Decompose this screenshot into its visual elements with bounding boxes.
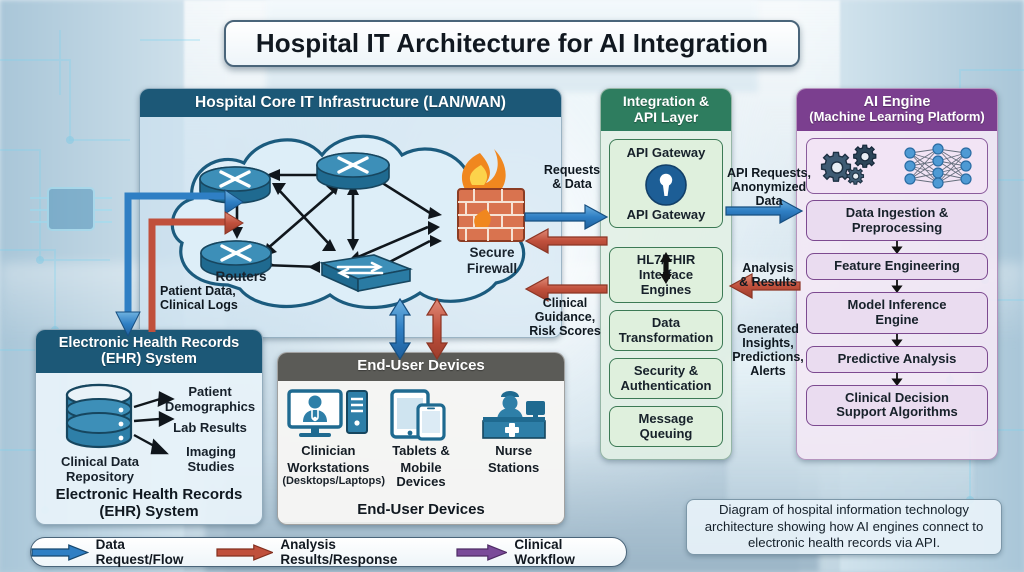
legend-purple-arrow-icon <box>456 544 508 561</box>
diagram-caption: Diagram of hospital information technolo… <box>686 499 1002 555</box>
security-line1: Security & <box>613 364 719 379</box>
ehr-header-line1: Electronic Health Records <box>42 335 256 351</box>
ehr-output-1-line1: Lab Results <box>160 421 260 436</box>
devices-row: Clinician Workstations (Desktops/Laptops… <box>278 381 564 490</box>
diagram-caption-text: Diagram of hospital information technolo… <box>695 502 993 553</box>
device-1-label-line1: Tablets & <box>375 444 467 458</box>
ehr-body: Clinical Data Repository Patient Demogra… <box>36 373 262 525</box>
ehr-footer: Electronic Health Records (EHR) System <box>36 487 262 521</box>
flow-ai-api-line2: & Results <box>730 275 806 289</box>
flow-guidance-line1: Clinical <box>524 296 606 310</box>
flow-insights-line4: Alerts <box>728 364 808 378</box>
ai-arrow-3 <box>806 334 988 346</box>
flow-api-ai-line2: Anonymized Data <box>718 180 820 208</box>
ai-step-data-ingestion[interactable]: Data Ingestion & Preprocessing <box>806 200 988 242</box>
ehr-repository-line2: Repository <box>48 470 152 485</box>
device-0-label-line2: Workstations <box>282 461 374 475</box>
ai-step-2-line2: Engine <box>810 313 984 328</box>
ai-arrow-1 <box>806 241 988 253</box>
api-gateway-top-label: API Gateway <box>613 146 719 161</box>
ai-step-3-line1: Predictive Analysis <box>810 352 984 367</box>
flow-api-ai-line1: API Requests, <box>718 166 820 180</box>
legend: Data Request/Flow Analysis Results/Respo… <box>30 537 627 567</box>
api-box-data-transformation[interactable]: Data Transformation <box>609 310 723 351</box>
device-2-label-line2: Stations <box>468 461 560 475</box>
ehr-repository-line1: Clinical Data <box>48 455 152 470</box>
flow-label-ai-to-api: Analysis & Results <box>730 261 806 289</box>
ai-arrow-4 <box>806 373 988 385</box>
ehr-repository-label: Clinical Data Repository <box>48 455 152 484</box>
ai-step-predictive-analysis[interactable]: Predictive Analysis <box>806 346 988 373</box>
message-queue-line1: Message <box>613 412 719 427</box>
ai-step-model-inference[interactable]: Model Inference Engine <box>806 292 988 334</box>
devices-footer: End-User Devices <box>278 501 564 518</box>
legend-red-arrow-icon <box>216 544 274 561</box>
core-header: Hospital Core IT Infrastructure (LAN/WAN… <box>140 89 561 117</box>
legend-item-clinical-workflow[interactable]: Clinical Workflow <box>456 537 626 567</box>
nurse-station-icon <box>468 389 560 441</box>
flow-patient-data-line1: Patient Data, <box>160 284 264 298</box>
api-body: API Gateway API Gateway HL7/FHIR Interfa… <box>601 131 731 455</box>
flow-guidance-line3: Risk Scores <box>524 324 606 338</box>
ai-header-line1: AI Engine <box>803 94 991 110</box>
security-line2: Authentication <box>613 379 719 394</box>
api-header-line1: Integration & <box>607 94 725 110</box>
flow-insights-line1: Generated <box>728 322 808 336</box>
hl7-line2: Interface <box>613 268 719 283</box>
legend-item-data-request[interactable]: Data Request/Flow <box>31 537 216 567</box>
database-icon <box>67 385 131 447</box>
ai-step-feature-engineering[interactable]: Feature Engineering <box>806 253 988 280</box>
device-item-nurse-stations[interactable]: Nurse Stations <box>468 389 560 476</box>
ehr-output-patient-demographics: Patient Demographics <box>160 385 260 414</box>
ai-icon-row <box>806 138 988 194</box>
label-firewall-line1: Secure <box>452 245 532 260</box>
flow-insights-line3: Predictions, <box>728 350 808 364</box>
ehr-output-2-line1: Imaging <box>162 445 260 460</box>
device-2-label-line1: Nurse <box>468 444 560 458</box>
panel-ehr-system[interactable]: Electronic Health Records (EHR) System <box>35 329 263 525</box>
hl7-line1: HL7/FHIR <box>613 253 719 268</box>
flow-core-api-line2: & Data <box>535 177 609 191</box>
message-queue-line2: Queuing <box>613 427 719 442</box>
api-gateway-bottom-label: API Gateway <box>613 208 719 223</box>
tablet-mobile-icon <box>375 389 467 441</box>
page-title-text: Hospital IT Architecture for AI Integrat… <box>256 28 768 59</box>
device-item-clinician-workstations[interactable]: Clinician Workstations (Desktops/Laptops… <box>282 389 374 488</box>
ehr-output-0-line1: Patient <box>160 385 260 400</box>
api-key-lock-icon <box>613 164 719 206</box>
ai-step-2-line1: Model Inference <box>810 298 984 313</box>
neural-network-icon <box>898 143 978 189</box>
panel-ai-engine[interactable]: AI Engine (Machine Learning Platform) <box>796 88 998 460</box>
data-transformation-line1: Data <box>613 316 719 331</box>
legend-label-1: Analysis Results/Response <box>280 537 455 567</box>
flow-guidance-line2: Guidance, <box>524 310 606 324</box>
desktop-workstation-icon <box>282 389 374 441</box>
ai-step-1-line1: Feature Engineering <box>810 259 984 274</box>
flow-patient-data-line2: Clinical Logs <box>160 298 264 312</box>
router-icon-1 <box>200 167 270 203</box>
flow-insights-line2: Insights, <box>728 336 808 350</box>
api-box-security-authentication[interactable]: Security & Authentication <box>609 358 723 399</box>
firewall-icon <box>458 149 524 241</box>
ehr-output-0-line2: Demographics <box>160 400 260 415</box>
ai-step-4-line2: Support Algorithms <box>810 405 984 420</box>
ehr-output-2-line2: Studies <box>162 460 260 475</box>
device-item-tablets-mobile[interactable]: Tablets & Mobile Devices <box>375 389 467 490</box>
devices-header: End-User Devices <box>278 353 564 381</box>
ehr-header: Electronic Health Records (EHR) System <box>36 330 262 373</box>
flow-label-generated-insights: Generated Insights, Predictions, Alerts <box>728 322 808 378</box>
label-routers: Routers <box>206 269 276 284</box>
api-header: Integration & API Layer <box>601 89 731 131</box>
flow-label-core-to-api: Requests & Data <box>535 163 609 191</box>
ai-header: AI Engine (Machine Learning Platform) <box>797 89 997 131</box>
ehr-footer-line1: Electronic Health Records <box>36 487 262 504</box>
api-header-line2: API Layer <box>607 110 725 126</box>
panel-integration-api-layer[interactable]: Integration & API Layer API Gateway API … <box>600 88 732 460</box>
label-firewall-line2: Firewall <box>452 261 532 276</box>
ehr-footer-line2: (EHR) System <box>36 504 262 521</box>
page-title: Hospital IT Architecture for AI Integrat… <box>224 20 800 67</box>
ai-step-0-line1: Data Ingestion & <box>810 206 984 221</box>
panel-end-user-devices[interactable]: End-User Devices <box>277 352 565 525</box>
api-gateway-box[interactable]: API Gateway API Gateway <box>609 139 723 228</box>
api-box-hl7-fhir[interactable]: HL7/FHIR Interface Engines <box>609 247 723 303</box>
legend-item-analysis-results[interactable]: Analysis Results/Response <box>216 537 456 567</box>
api-box-message-queuing[interactable]: Message Queuing <box>609 406 723 447</box>
ai-step-0-line2: Preprocessing <box>810 221 984 236</box>
hl7-line3: Engines <box>613 283 719 298</box>
device-1-label-line2: Mobile Devices <box>375 461 467 490</box>
ai-step-4-line1: Clinical Decision <box>810 391 984 406</box>
ai-arrow-2 <box>806 280 988 292</box>
legend-label-0: Data Request/Flow <box>96 537 216 567</box>
flow-label-api-to-ai: API Requests, Anonymized Data <box>718 166 820 208</box>
ai-body: Data Ingestion & Preprocessing Feature E… <box>797 131 997 434</box>
flow-label-patient-data: Patient Data, Clinical Logs <box>160 284 264 312</box>
ehr-output-imaging-studies: Imaging Studies <box>162 445 260 474</box>
flow-ai-api-line1: Analysis <box>730 261 806 275</box>
ai-step-clinical-decision-support[interactable]: Clinical Decision Support Algorithms <box>806 385 988 427</box>
device-0-label-line1: Clinician <box>282 444 374 458</box>
data-transformation-line2: Transformation <box>613 331 719 346</box>
flow-label-clinical-guidance: Clinical Guidance, Risk Scores <box>524 296 606 338</box>
device-0-sublabel: (Desktops/Laptops) <box>282 475 374 487</box>
flow-core-api-line1: Requests <box>535 163 609 177</box>
ai-header-line2: (Machine Learning Platform) <box>803 110 991 125</box>
devices-body: Clinician Workstations (Desktops/Laptops… <box>278 381 564 522</box>
gears-icon <box>817 144 891 188</box>
ehr-output-lab-results: Lab Results <box>160 421 260 436</box>
router-icon-3 <box>317 153 389 189</box>
legend-label-2: Clinical Workflow <box>514 537 626 567</box>
legend-blue-arrow-icon <box>31 544 89 561</box>
ehr-header-line2: (EHR) System <box>42 351 256 367</box>
